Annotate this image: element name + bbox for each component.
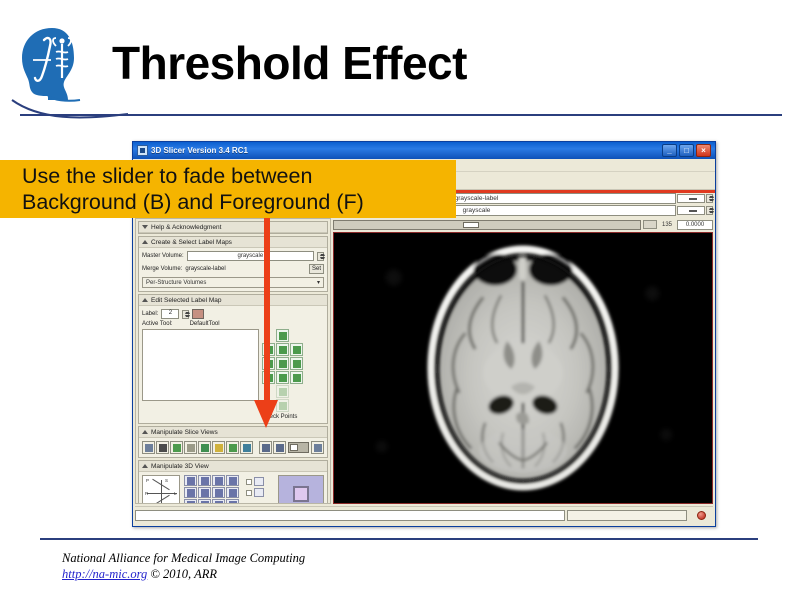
rotate-left-icon[interactable] bbox=[184, 475, 197, 486]
zoom-in-icon[interactable] bbox=[226, 475, 239, 486]
label-volume-value: grayscale-label bbox=[455, 195, 499, 202]
header-divider-curve bbox=[10, 96, 130, 122]
label-window-slider[interactable] bbox=[677, 194, 705, 203]
section-header-3d-view[interactable]: Manipulate 3D View bbox=[139, 461, 327, 472]
merge-volume-label: Merge Volume: bbox=[142, 266, 182, 272]
editor-tools-wrap: Check Points bbox=[142, 329, 324, 420]
slice-offset-controls[interactable]: 135 0.0000 bbox=[333, 218, 713, 231]
footer: National Alliance for Medical Image Comp… bbox=[62, 550, 305, 582]
master-volume-stepper[interactable] bbox=[317, 252, 324, 261]
slice-number: 135 bbox=[659, 222, 675, 228]
window-title: 3D Slicer Version 3.4 RC1 bbox=[151, 146, 248, 155]
erode-effect-icon[interactable] bbox=[290, 371, 303, 384]
chevron-up-icon-edit[interactable] bbox=[142, 298, 148, 302]
compositing-icon[interactable] bbox=[184, 441, 197, 454]
label-window-stepper[interactable] bbox=[706, 194, 713, 203]
axes-visible-checkbox[interactable] bbox=[246, 490, 252, 496]
merge-volume-value: grayscale-label bbox=[185, 266, 225, 272]
slice-offset-handle[interactable] bbox=[463, 222, 479, 228]
stop-icon bbox=[697, 511, 706, 520]
section-manipulate-3d-view[interactable]: Manipulate 3D View P S R L I A bbox=[138, 460, 328, 504]
progress-bar bbox=[135, 510, 565, 521]
chevron-down-icon-help[interactable] bbox=[142, 225, 148, 229]
merge-volume-row[interactable]: Merge Volume: grayscale-label Set bbox=[142, 264, 324, 274]
callout-box: Use the slider to fade between Backgroun… bbox=[0, 160, 456, 218]
status-field[interactable] bbox=[567, 510, 687, 521]
section-body-slice-views bbox=[139, 438, 327, 457]
section-body-3d-view: P S R L I A bbox=[139, 472, 327, 504]
master-volume-row[interactable]: Master Volume: grayscale bbox=[142, 251, 324, 261]
background-color-icon[interactable] bbox=[212, 499, 225, 504]
fiducials-visible-row[interactable] bbox=[246, 477, 274, 486]
fiducial-points-icon[interactable] bbox=[254, 477, 264, 486]
maximize-button[interactable]: □ bbox=[679, 144, 694, 157]
orient-label-p: P bbox=[146, 478, 149, 483]
close-glyph: × bbox=[697, 145, 710, 156]
label-value-row[interactable]: Label: 2 bbox=[142, 309, 324, 319]
window-titlebar: 3D Slicer Version 3.4 RC1 _ □ × bbox=[133, 142, 715, 159]
orient-label-r: R bbox=[145, 491, 148, 496]
section-title-create: Create & Select Label Maps bbox=[151, 239, 232, 246]
master-volume-label: Master Volume: bbox=[142, 253, 184, 259]
minimize-glyph: _ bbox=[663, 145, 676, 156]
section-header-edit[interactable]: Edit Selected Label Map bbox=[139, 295, 327, 306]
link-views-icon[interactable] bbox=[198, 441, 211, 454]
background-toggle-icon[interactable] bbox=[259, 441, 272, 454]
section-title-slice-views: Manipulate Slice Views bbox=[151, 429, 218, 436]
slice-offset-value[interactable]: 0.0000 bbox=[677, 220, 713, 230]
minimize-button[interactable]: _ bbox=[662, 144, 677, 157]
status-bar bbox=[135, 506, 713, 524]
stop-button[interactable] bbox=[689, 510, 713, 522]
view3d-slice-plane bbox=[293, 486, 309, 502]
v3d-row-2 bbox=[184, 487, 242, 498]
window-controls: _ □ × bbox=[662, 144, 713, 157]
footer-organization: National Alliance for Medical Image Comp… bbox=[62, 550, 305, 566]
center-view-icon[interactable] bbox=[198, 475, 211, 486]
axes-visible-row[interactable] bbox=[246, 488, 274, 497]
slide-header: Threshold Effect bbox=[0, 0, 800, 120]
orient-label-s: S bbox=[165, 478, 168, 483]
strip-separator bbox=[254, 441, 258, 454]
screenshot-icon[interactable] bbox=[212, 475, 225, 486]
footer-url[interactable]: http://na-mic.org bbox=[62, 567, 147, 581]
lightbox-icon[interactable] bbox=[212, 441, 225, 454]
orient-label-l: L bbox=[174, 491, 177, 496]
active-tool-row: Active Tool: DefaultTool bbox=[142, 321, 324, 327]
set-button[interactable]: Set bbox=[309, 264, 324, 274]
v3d-row-1 bbox=[184, 475, 242, 486]
fiducials-visible-checkbox[interactable] bbox=[246, 479, 252, 485]
section-body-edit: Label: 2 Active Tool: DefaultTool bbox=[139, 306, 327, 423]
axial-brain-mri[interactable] bbox=[333, 232, 713, 504]
label-value-stepper[interactable] bbox=[182, 310, 189, 319]
tool-spacer-2 bbox=[290, 329, 303, 342]
chevron-up-icon-slice-views[interactable] bbox=[142, 430, 148, 434]
fade-reset-icon[interactable] bbox=[311, 441, 324, 454]
application-icon bbox=[137, 145, 148, 156]
capture-icon[interactable] bbox=[212, 487, 225, 498]
section-title-edit: Edit Selected Label Map bbox=[151, 297, 221, 304]
section-edit-selected-label-map[interactable]: Edit Selected Label Map Label: 2 Active … bbox=[138, 294, 328, 424]
header-divider bbox=[20, 114, 782, 116]
callout-arrow bbox=[246, 214, 286, 436]
section-title-help: Help & Acknowledgment bbox=[151, 224, 221, 231]
footer-copyright: © 2010, ARR bbox=[150, 567, 217, 581]
section-help-and-acknowledgment[interactable]: Help & Acknowledgment bbox=[138, 221, 328, 234]
section-header-slice-views[interactable]: Manipulate Slice Views bbox=[139, 427, 327, 438]
view3d-button-grid[interactable] bbox=[184, 475, 242, 504]
per-structure-volumes-label: Per-Structure Volumes bbox=[146, 280, 206, 286]
fade-slider-handle[interactable] bbox=[290, 444, 298, 451]
background-window-slider[interactable] bbox=[677, 206, 705, 215]
slice-visibility-icon[interactable] bbox=[156, 441, 169, 454]
crosshair-icon[interactable] bbox=[142, 441, 155, 454]
orientation-axes-widget[interactable]: P S R L I A bbox=[142, 475, 180, 504]
active-tool-caption: Active Tool: bbox=[142, 321, 173, 327]
section-header-help[interactable]: Help & Acknowledgment bbox=[139, 222, 327, 233]
axes-icon[interactable] bbox=[254, 488, 264, 497]
view3d-controls: P S R L I A bbox=[142, 475, 324, 504]
stereo-icon[interactable] bbox=[226, 499, 239, 504]
section-title-3d-view: Manipulate 3D View bbox=[151, 463, 209, 470]
rotate-right-icon[interactable] bbox=[184, 487, 197, 498]
active-tool-value: DefaultTool bbox=[190, 321, 220, 327]
visibility-icon[interactable] bbox=[198, 499, 211, 504]
grid-layout-icon[interactable] bbox=[226, 441, 239, 454]
background-window-stepper[interactable] bbox=[706, 206, 713, 215]
tool-spacer-6 bbox=[290, 399, 303, 412]
view3d-checkbox-group[interactable] bbox=[246, 475, 274, 497]
fade-slider[interactable] bbox=[288, 442, 309, 453]
maximize-glyph: □ bbox=[680, 145, 693, 156]
module-panel[interactable]: Help & Acknowledgment Create & Select La… bbox=[135, 218, 331, 504]
slice-viewer[interactable]: 135 0.0000 bbox=[333, 218, 713, 504]
label-value-field[interactable]: 2 bbox=[161, 309, 179, 319]
foreground-toggle-icon[interactable] bbox=[273, 441, 286, 454]
brain-mri-image bbox=[334, 233, 712, 503]
section-create-and-select-label-maps[interactable]: Create & Select Label Maps Master Volume… bbox=[138, 236, 328, 292]
callout-line-2: Background (B) and Foreground (F) bbox=[22, 189, 456, 215]
chevron-up-icon-create[interactable] bbox=[142, 240, 148, 244]
change-label-effect-icon[interactable] bbox=[290, 357, 303, 370]
page-title: Threshold Effect bbox=[112, 36, 467, 90]
reset-view-icon[interactable] bbox=[198, 487, 211, 498]
tool-spacer-4 bbox=[290, 385, 303, 398]
footer-divider bbox=[40, 538, 758, 540]
editor-canvas[interactable] bbox=[142, 329, 259, 401]
view3d-preview[interactable] bbox=[278, 475, 324, 504]
close-button[interactable]: × bbox=[696, 144, 711, 157]
na-mic-logo bbox=[18, 26, 90, 102]
chevron-down-icon-per-structure[interactable]: ▾ bbox=[317, 279, 320, 286]
slice-view-icon-strip[interactable] bbox=[142, 441, 324, 454]
v3d-row-3 bbox=[184, 499, 242, 504]
section-manipulate-slice-views[interactable]: Manipulate Slice Views bbox=[138, 426, 328, 458]
slice-offset-slider[interactable] bbox=[333, 220, 641, 230]
per-structure-volumes-selector[interactable]: Per-Structure Volumes ▾ bbox=[142, 277, 324, 288]
background-volume-value: grayscale bbox=[463, 207, 491, 214]
spin-view-icon[interactable] bbox=[184, 499, 197, 504]
label-field-caption: Label: bbox=[142, 311, 158, 317]
slice-orientation-button[interactable] bbox=[643, 220, 657, 229]
section-body-create: Master Volume: grayscale Merge Volume: g… bbox=[139, 248, 327, 291]
chevron-up-icon-3d-view[interactable] bbox=[142, 464, 148, 468]
zoom-out-icon[interactable] bbox=[226, 487, 239, 498]
compare-layout-icon[interactable] bbox=[240, 441, 253, 454]
label-outline-icon[interactable] bbox=[170, 441, 183, 454]
label-color-swatch[interactable] bbox=[192, 309, 204, 319]
callout-line-1: Use the slider to fade between bbox=[22, 163, 456, 189]
section-header-create[interactable]: Create & Select Label Maps bbox=[139, 237, 327, 248]
levelset-effect-icon[interactable] bbox=[290, 343, 303, 356]
